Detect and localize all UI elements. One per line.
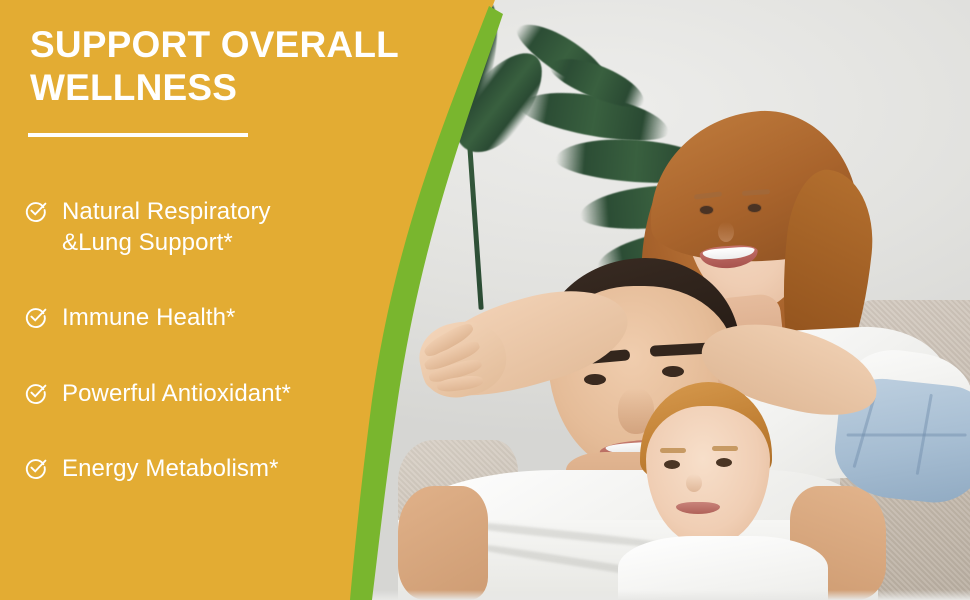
boy-eye-right [716, 458, 732, 467]
page-title: SUPPORT OVERALL WELLNESS [30, 24, 430, 110]
boy-nose [686, 474, 702, 492]
list-item: Powerful Antioxidant* [24, 378, 424, 409]
boy-eyebrow-left [660, 448, 686, 453]
check-circle-icon [24, 199, 48, 223]
list-item: Immune Health* [24, 302, 424, 333]
list-item-label: Immune Health* [62, 302, 235, 333]
promotional-banner: SUPPORT OVERALL WELLNESS Natural Respira… [0, 0, 970, 600]
list-item-label: Natural Respiratory &Lung Support* [62, 196, 271, 258]
boy-eye-left [664, 460, 680, 469]
man-eye-right [662, 366, 684, 377]
girl-teeth [702, 246, 755, 261]
title-divider [28, 133, 248, 137]
man-eye-left [584, 374, 606, 385]
girl-eye-right [748, 204, 761, 212]
list-item: Natural Respiratory &Lung Support* [24, 196, 424, 258]
check-circle-icon [24, 456, 48, 480]
list-item: Energy Metabolism* [24, 453, 424, 484]
check-circle-icon [24, 305, 48, 329]
check-circle-icon [24, 381, 48, 405]
list-item-label: Powerful Antioxidant* [62, 378, 291, 409]
boy-eyebrow-right [712, 446, 738, 451]
list-item-label: Energy Metabolism* [62, 453, 279, 484]
text-panel: SUPPORT OVERALL WELLNESS Natural Respira… [0, 0, 430, 600]
girl-eye-left [700, 206, 713, 214]
girl-nose [718, 222, 734, 242]
benefits-list: Natural Respiratory &Lung Support* Immun… [24, 196, 424, 484]
